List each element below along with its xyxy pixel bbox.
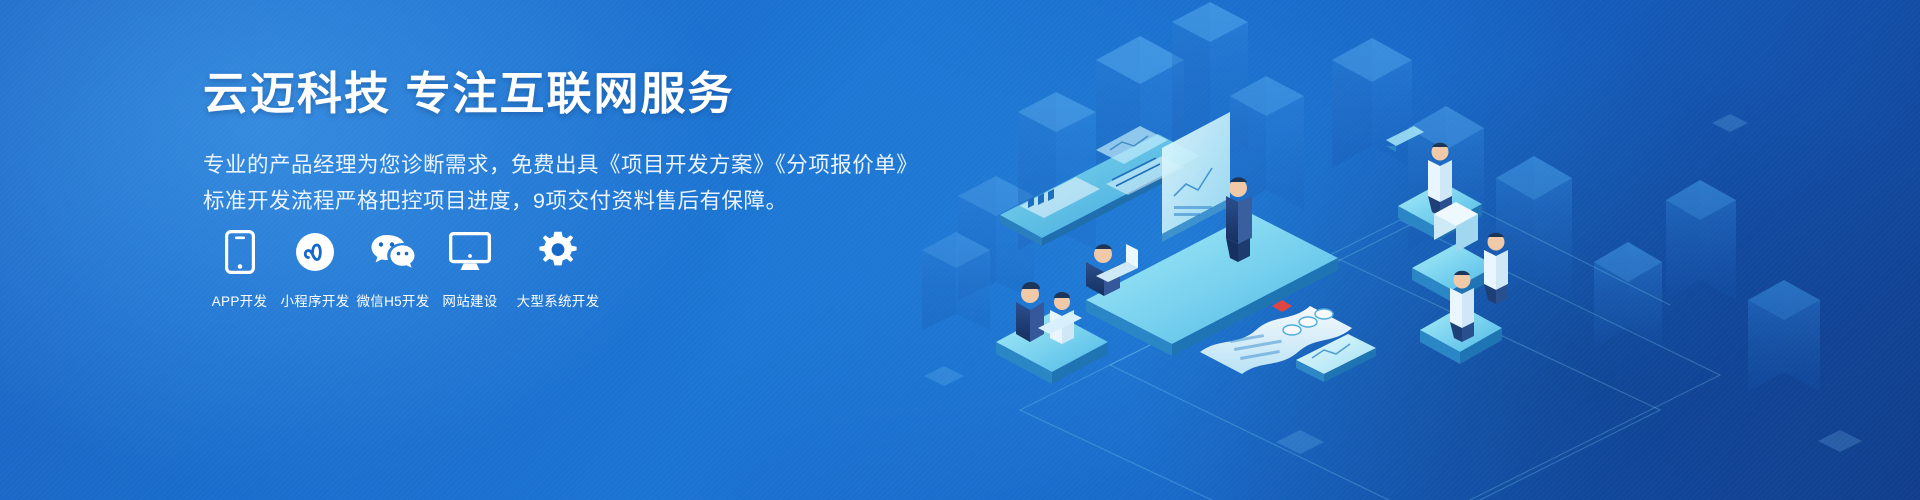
- service-item-large-system-development[interactable]: 大型系统开发: [508, 228, 608, 310]
- service-label: APP开发: [212, 290, 268, 310]
- service-item-app-development[interactable]: APP开发: [203, 228, 276, 310]
- service-label: 微信H5开发: [356, 290, 429, 310]
- service-list: APP开发 小程序开发 微信: [203, 228, 608, 310]
- service-label: 网站建设: [442, 290, 497, 310]
- service-item-mini-program-development[interactable]: 小程序开发: [276, 228, 354, 310]
- page-title: 云迈科技 专注互联网服务: [203, 66, 963, 122]
- banner-subtitle: 专业的产品经理为您诊断需求，免费出具《项目开发方案》《分项报价单》 标准开发流程…: [203, 147, 963, 219]
- subtitle-line-2: 标准开发流程严格把控项目进度，9项交付资料售后有保障。: [203, 183, 963, 219]
- service-item-website-construction[interactable]: 网站建设: [432, 228, 508, 310]
- wechat-icon: [369, 228, 417, 276]
- service-label: 大型系统开发: [517, 290, 600, 310]
- monitor-icon: [446, 228, 494, 276]
- mobile-phone-icon: [216, 228, 264, 276]
- service-item-wechat-h5-development[interactable]: 微信H5开发: [354, 228, 432, 310]
- hero-banner: 云迈科技 专注互联网服务 专业的产品经理为您诊断需求，免费出具《项目开发方案》《…: [0, 0, 1920, 500]
- banner-text-block: 云迈科技 专注互联网服务 专业的产品经理为您诊断需求，免费出具《项目开发方案》《…: [203, 66, 963, 219]
- mini-program-icon: [291, 228, 339, 276]
- service-label: 小程序开发: [281, 290, 350, 310]
- subtitle-line-1: 专业的产品经理为您诊断需求，免费出具《项目开发方案》《分项报价单》: [203, 147, 963, 183]
- gear-icon: [534, 228, 582, 276]
- illustration: [900, 0, 1920, 500]
